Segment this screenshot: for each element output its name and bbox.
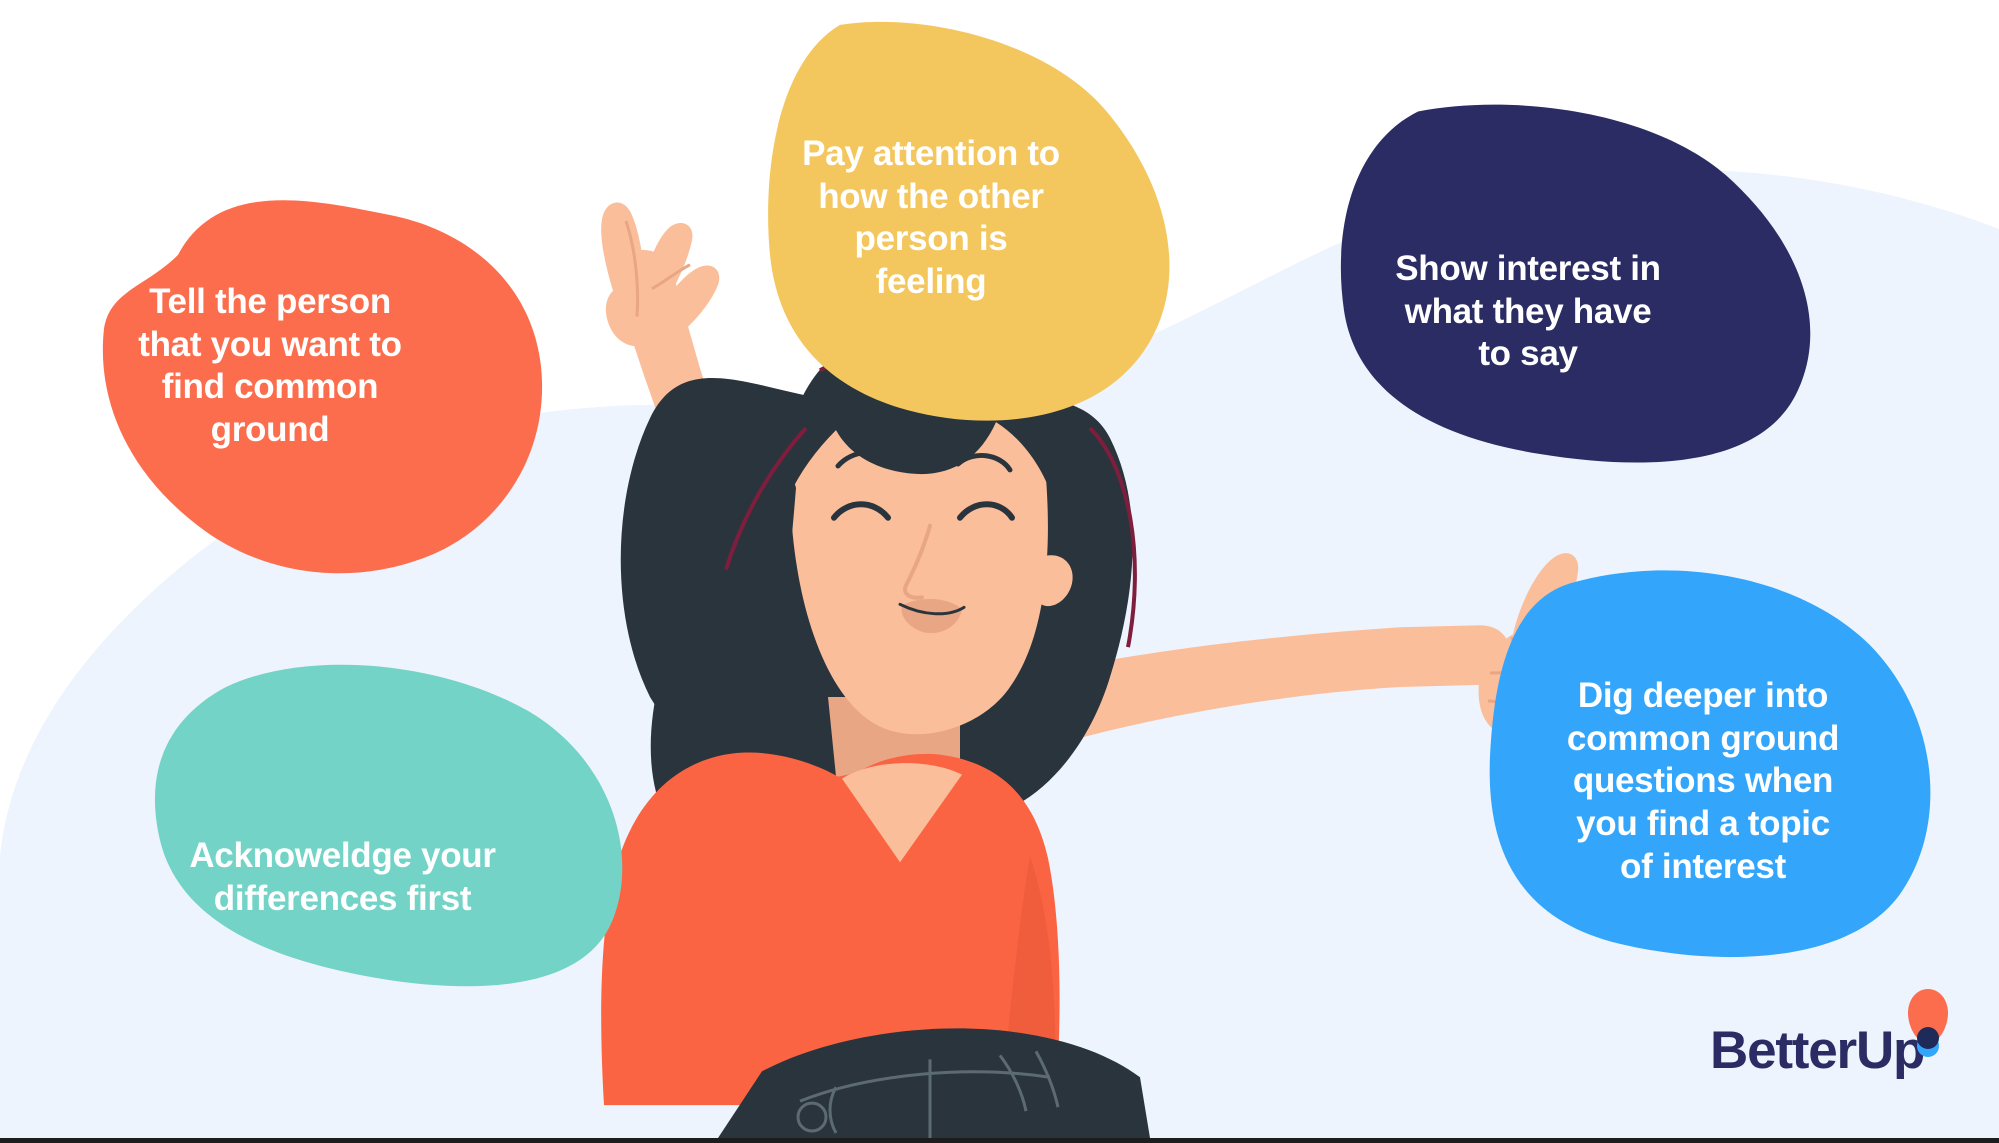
blob-shape-ack [155,665,622,987]
betterup-wordmark: BetterUp [1710,1024,1924,1077]
blob-shapes [0,0,1999,1138]
betterup-logo: BetterUp [1710,988,1950,1093]
blob-shape-show [1341,105,1810,463]
betterup-balloon-icon [1906,988,1950,1064]
blob-shape-dig [1490,570,1931,957]
blob-shape-tell [103,200,542,573]
blob-shape-pay [768,22,1169,421]
infographic-canvas: Tell the person that you want to find co… [0,0,1999,1143]
